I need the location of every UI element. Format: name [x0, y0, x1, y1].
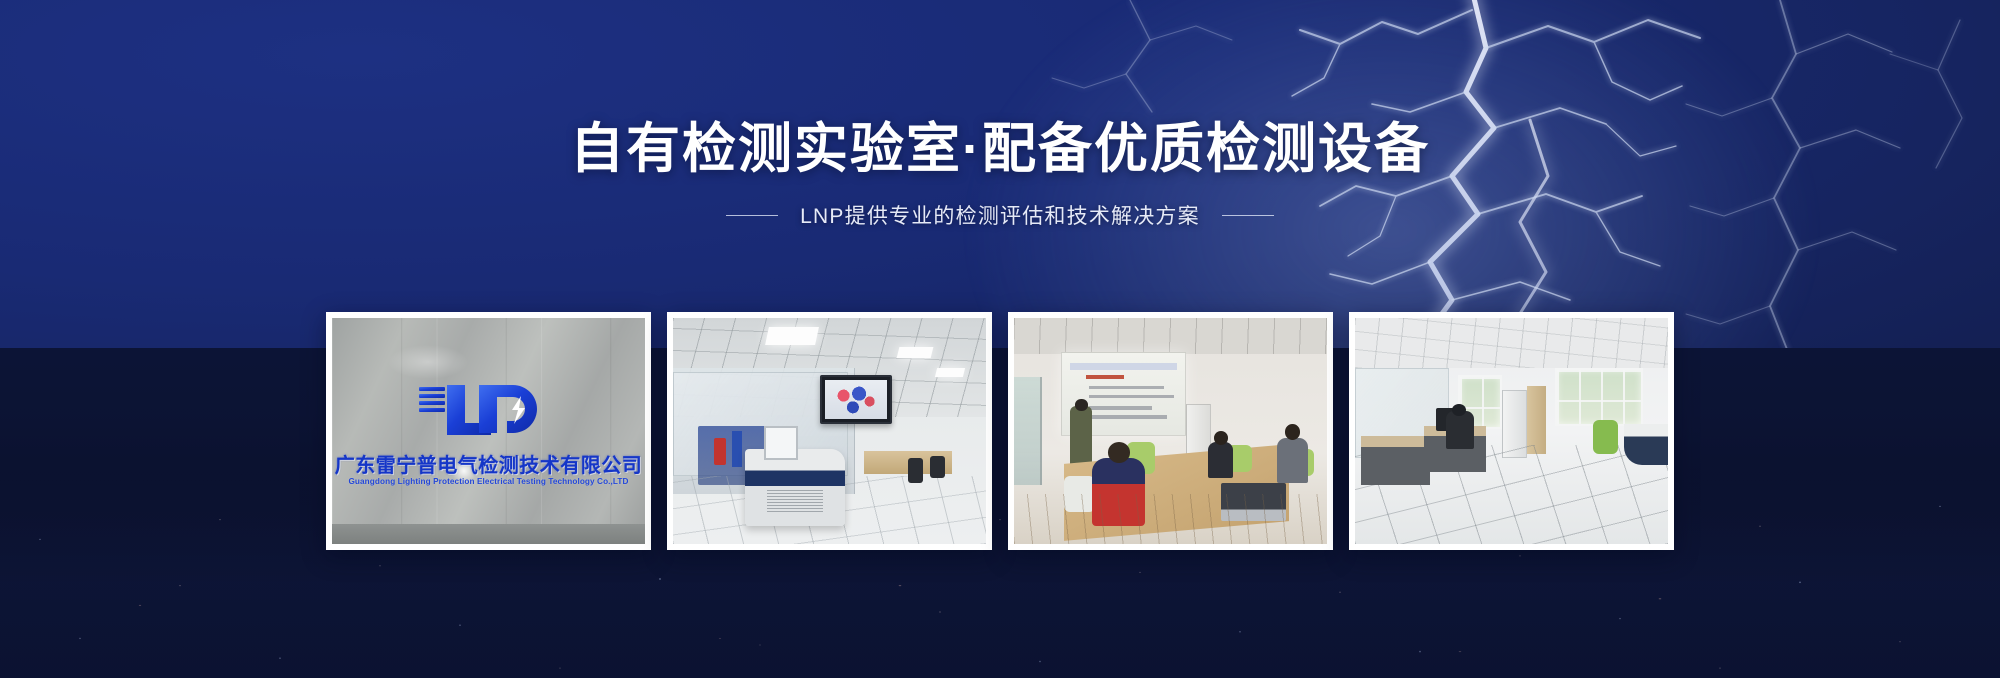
slide-titlebar — [1070, 363, 1176, 370]
lab-chair — [930, 456, 946, 479]
ceiling-light — [935, 368, 965, 377]
lab-chair — [908, 458, 924, 483]
window-mullions — [1557, 370, 1641, 425]
console-vents — [767, 490, 823, 513]
reception-counter — [1624, 424, 1668, 465]
attendee-person — [1277, 438, 1308, 483]
rule-left-icon — [726, 215, 778, 216]
lobby-floor — [332, 524, 645, 544]
presenter-head — [1075, 399, 1088, 410]
office-window — [1555, 368, 1643, 427]
lnp-logo-icon — [417, 379, 561, 443]
test-equipment-red-part — [714, 438, 727, 465]
photo-company-lobby-sign: 广东雷宁普电气检测技术有限公司 Guangdong Lighting Prote… — [332, 318, 645, 544]
company-name-en: Guangdong Lighting Protection Electrical… — [348, 477, 628, 486]
photo-gallery: 广东雷宁普电气检测技术有限公司 Guangdong Lighting Prote… — [326, 312, 1674, 550]
wall-monitor — [820, 375, 892, 425]
slide-text-line — [1089, 406, 1152, 409]
photo-meeting-room-training — [1014, 318, 1327, 544]
gallery-item-company-lobby-sign[interactable]: 广东雷宁普电气检测技术有限公司 Guangdong Lighting Prote… — [326, 312, 651, 550]
monitor-screen — [825, 380, 887, 420]
photo-office-area — [1355, 318, 1668, 544]
office-desk — [1361, 436, 1430, 486]
ceiling-light — [897, 347, 934, 358]
headline-block: 自有检测实验室·配备优质检测设备 LNP提供专业的检测评估和技术解决方案 — [0, 118, 2000, 230]
office-ceiling — [1355, 318, 1668, 368]
control-console — [745, 449, 845, 526]
subtitle-row: LNP提供专业的检测评估和技术解决方案 — [0, 200, 2000, 230]
attendee-head — [1108, 442, 1130, 462]
test-equipment-blue-part — [732, 431, 741, 467]
meeting-floor — [1014, 494, 1327, 544]
hero-banner: 自有检测实验室·配备优质检测设备 LNP提供专业的检测评估和技术解决方案 — [0, 0, 2000, 678]
presenter-person — [1070, 406, 1092, 465]
gallery-item-testing-laboratory[interactable] — [667, 312, 992, 550]
attendee-person — [1208, 442, 1233, 478]
office-chair — [1593, 420, 1618, 454]
page-subtitle: LNP提供专业的检测评估和技术解决方案 — [800, 200, 1200, 230]
gallery-item-office-area[interactable] — [1349, 312, 1674, 550]
ceiling-light — [765, 327, 819, 345]
rule-right-icon — [1222, 215, 1274, 216]
slide-text-line — [1089, 386, 1164, 389]
meeting-room-door — [1014, 377, 1042, 485]
page-title: 自有检测实验室·配备优质检测设备 — [570, 118, 1430, 180]
attendee-head — [1214, 431, 1228, 445]
photo-testing-laboratory — [673, 318, 986, 544]
console-monitor — [764, 426, 798, 460]
meeting-ceiling — [1014, 318, 1327, 354]
slide-heading — [1086, 375, 1124, 380]
slide-text-line — [1089, 395, 1174, 398]
office-worker — [1446, 411, 1474, 449]
company-name-cn: 广东雷宁普电气检测技术有限公司 — [335, 449, 643, 478]
office-shelf — [1527, 386, 1546, 454]
gallery-item-meeting-room-training[interactable] — [1008, 312, 1333, 550]
wall-highlight — [388, 345, 468, 379]
slide-text-line — [1089, 415, 1167, 418]
